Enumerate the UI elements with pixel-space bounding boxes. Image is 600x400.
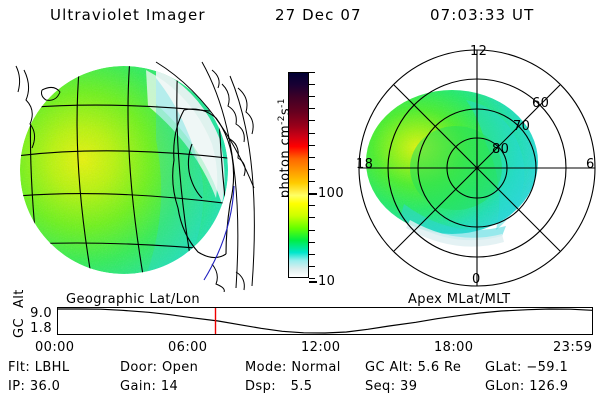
colorbar-label-10: 10 [318,274,335,289]
mlt-label-12: 12 [470,44,487,59]
status-filter-value: LBHL [35,360,70,375]
altitude-curve [58,308,592,334]
strip-title-geographic: Geographic Lat/Lon [66,292,200,307]
status-mode-key: Mode: [245,360,287,375]
altitude-ytick-high: 9.0 [22,306,52,321]
status-gcalt: GC Alt: 5.6 Re [365,360,461,375]
status-gcalt-key: GC Alt: [365,360,413,375]
colorbar-unit-exp1: -2 [277,115,287,125]
apex-polar-image [356,44,598,292]
status-filter-key: Flt: [8,360,30,375]
altitude-plot-box [57,307,593,335]
status-glon-value: 126.9 [529,379,568,394]
colorbar: photon cm-2s-1 100 10 [266,48,358,292]
status-seq: Seq: 39 [365,379,417,394]
status-filter: Flt: LBHL [8,360,70,375]
instrument-title: Ultraviolet Imager [50,6,206,24]
mlt-label-6: 6 [586,157,595,172]
status-ip-key: IP: [8,379,25,394]
observation-date: 27 Dec 07 [275,6,362,24]
status-door: Door: Open [120,360,198,375]
status-glat: GLat: −59.1 [485,360,568,375]
colorbar-ticks [309,72,317,278]
colorbar-gradient-box [288,72,309,278]
status-dsp-value: 5.5 [291,379,313,394]
status-door-key: Door: [120,360,157,375]
geographic-globe-panel [6,48,264,292]
status-glon-key: GLon: [485,379,525,394]
status-glat-key: GLat: [485,360,522,375]
status-seq-value: 39 [400,379,417,394]
mlt-label-0: 0 [472,272,481,287]
time-tick-2: 12:00 [301,340,340,355]
status-gain-key: Gain: [120,379,156,394]
status-gcalt-value: 5.6 Re [418,360,462,375]
time-tick-3: 18:00 [434,340,473,355]
altitude-ytick-low: 1.8 [22,321,52,336]
observation-time: 07:03:33 UT [430,6,534,24]
time-tick-0: 00:00 [35,340,74,355]
time-tick-1: 06:00 [168,340,207,355]
status-ip-value: 36.0 [30,379,61,394]
mlat-label-60: 60 [532,96,549,111]
time-axis: 00:0006:0012:0018:0023:59 [0,340,600,358]
apex-polar-panel: 12 18 6 0 60 70 80 [356,44,598,292]
mlt-label-18: 18 [356,157,373,172]
status-gain-value: 14 [161,379,178,394]
colorbar-gradient [289,73,308,277]
status-mode: Mode: Normal [245,360,341,375]
status-glat-value: −59.1 [526,360,568,375]
status-ip: IP: 36.0 [8,379,60,394]
colorbar-unit-exp2: -1 [277,98,287,108]
status-dsp: Dsp: 5.5 [245,379,312,394]
strip-title-apex: Apex MLat/MLT [408,292,510,307]
status-door-value: Open [162,360,198,375]
header-bar: Ultraviolet Imager 27 Dec 07 07:03:33 UT [0,6,600,30]
geographic-globe-image [6,48,264,292]
time-tick-4: 23:59 [553,340,592,355]
altitude-strip: Geographic Lat/Lon Apex MLat/MLT Alt GC … [0,292,600,338]
status-glon: GLon: 126.9 [485,379,568,394]
mlat-label-70: 70 [513,119,530,134]
colorbar-label-100: 100 [318,186,344,201]
status-gain: Gain: 14 [120,379,178,394]
status-dsp-key: Dsp: [245,379,276,394]
uvi-summary-plot: Ultraviolet Imager 27 Dec 07 07:03:33 UT [0,0,600,400]
mlat-label-80: 80 [492,142,509,157]
status-seq-key: Seq: [365,379,395,394]
status-mode-value: Normal [291,360,340,375]
status-block: Flt: LBHL IP: 36.0 Door: Open Gain: 14 M… [0,360,600,400]
